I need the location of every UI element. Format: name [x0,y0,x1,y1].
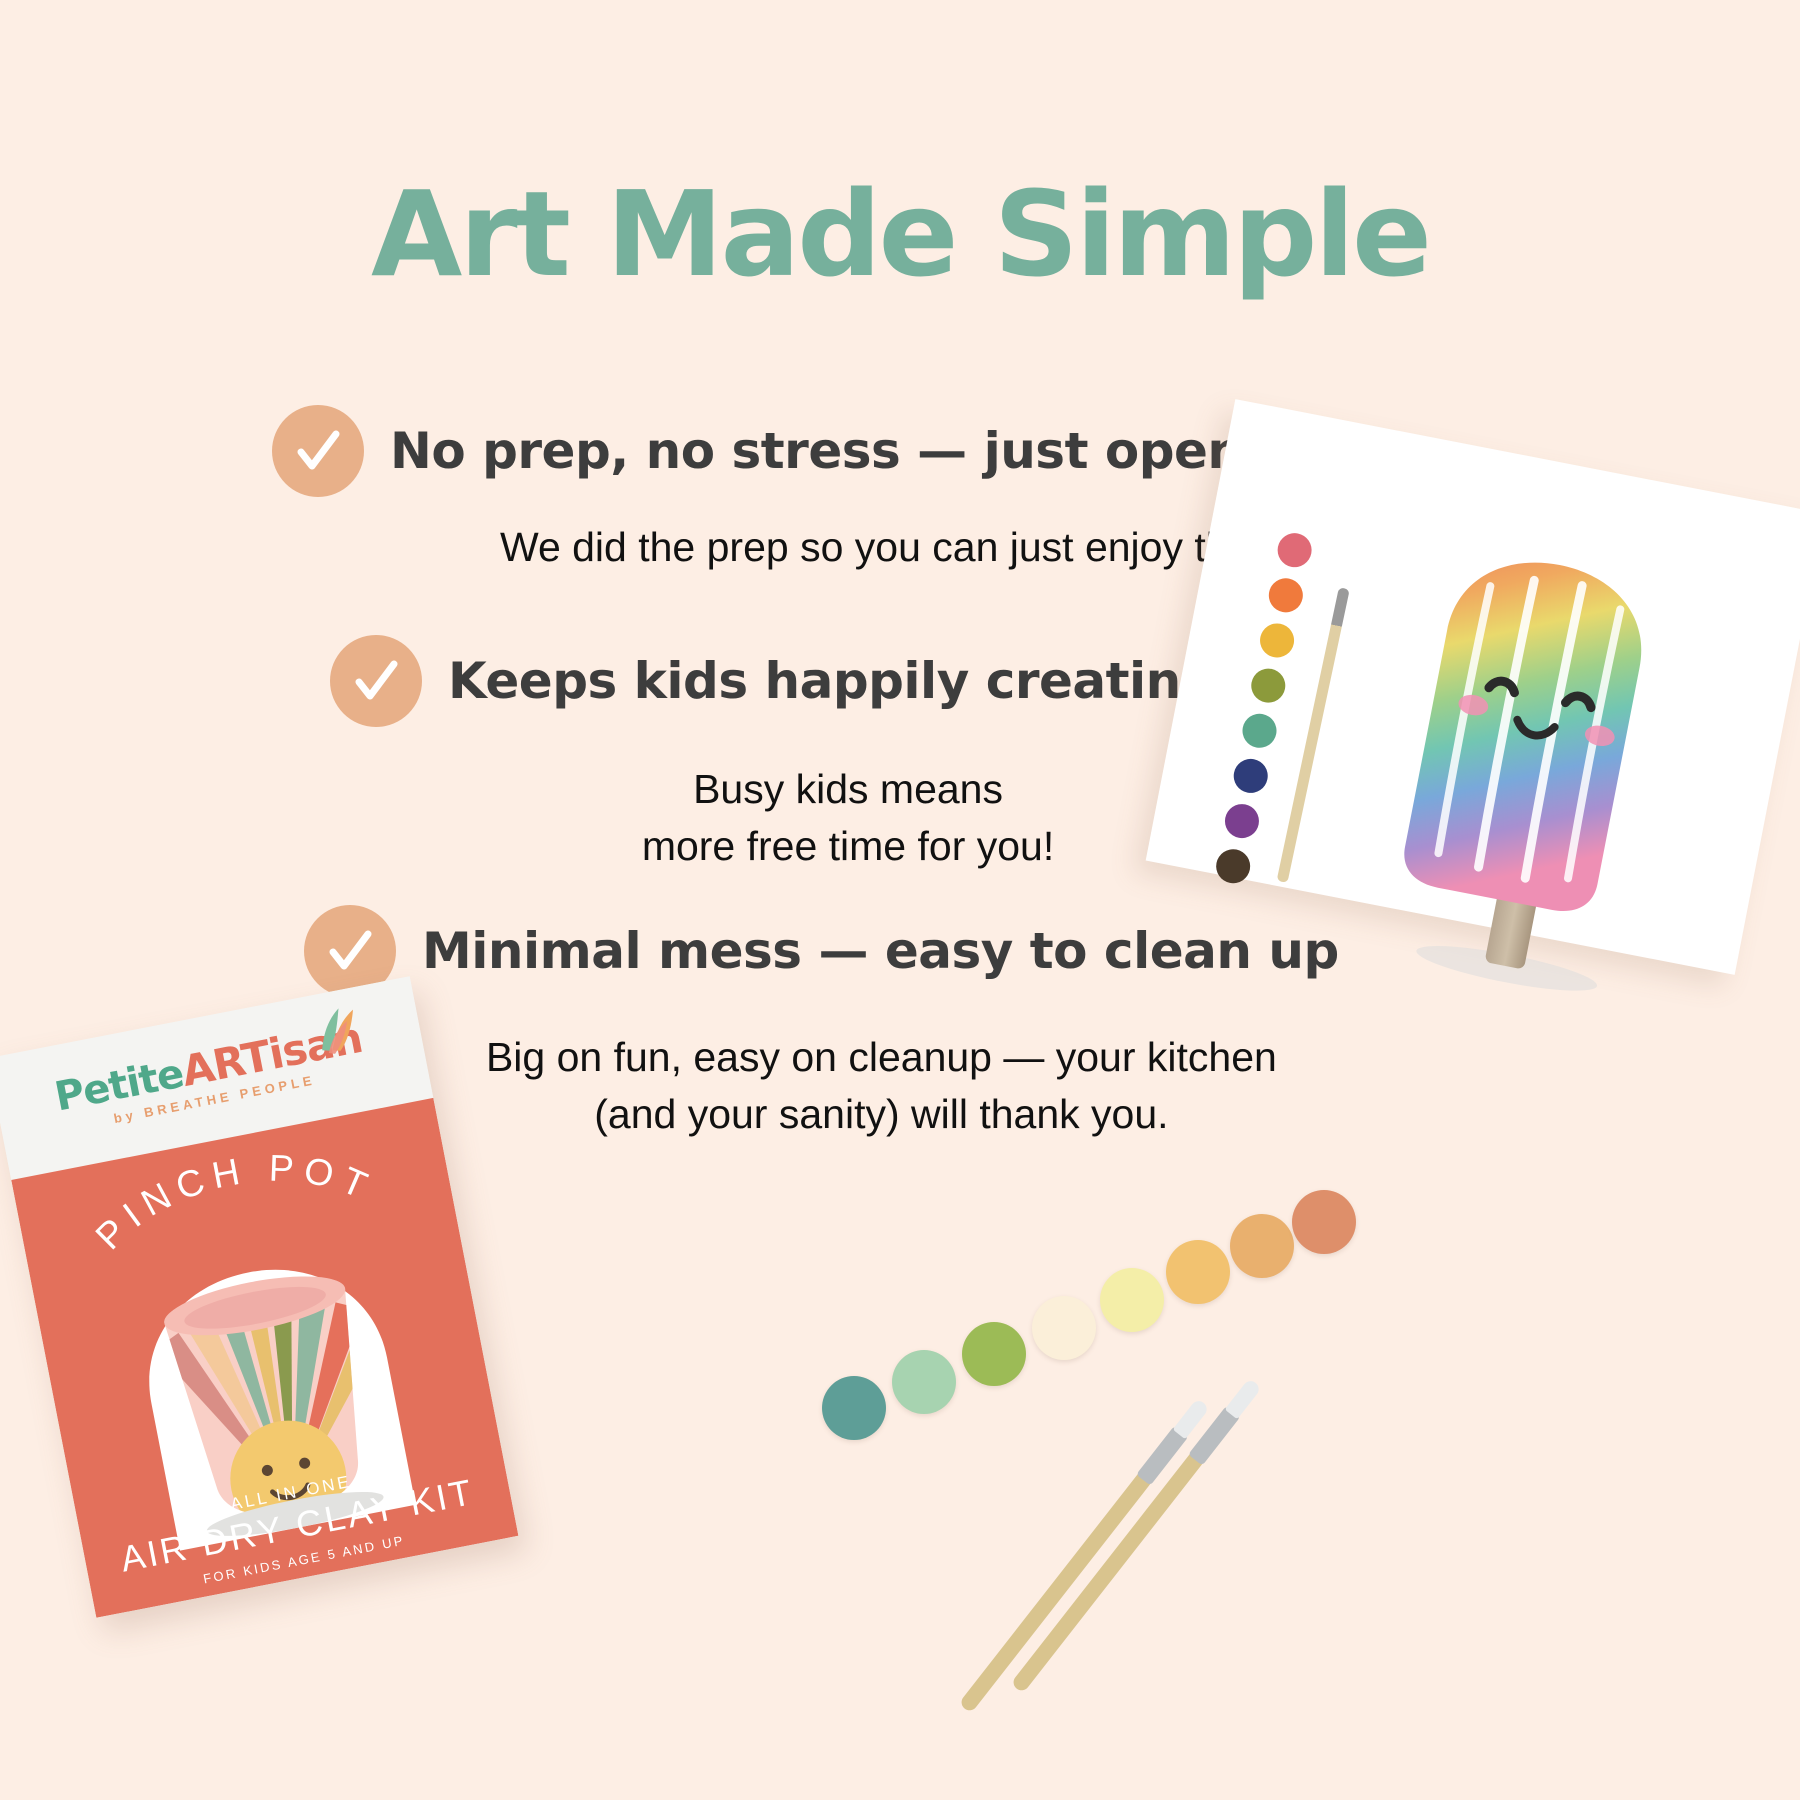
swatch-dot [1257,621,1297,661]
paint-pot [822,1376,886,1440]
paint-pot [962,1322,1026,1386]
paint-pot [1230,1214,1294,1278]
paint-pot [892,1350,956,1414]
benefit-2-headline: Keeps kids happily creating [448,652,1216,710]
check-icon [272,405,364,497]
swatch-dot [1248,666,1288,706]
benefit-3-body-line-1: Big on fun, easy on cleanup — your kitch… [424,1029,1339,1086]
benefit-2-body: Busy kids means more free time for you! [480,761,1216,874]
brush-handle [958,1467,1155,1713]
benefit-3-headline: Minimal mess — easy to clean up [422,922,1339,980]
benefit-3-row: Minimal mess — easy to clean up [304,905,1339,997]
benefit-3-body-line-2: (and your sanity) will thank you. [424,1086,1339,1143]
leaf-sprig-icon [305,1002,370,1063]
swatch-dot [1275,530,1315,570]
swatch-dot [1240,711,1280,751]
page-title: Art Made Simple [0,175,1800,293]
popsicle-swatch-column [1211,530,1315,898]
benefit-3-body: Big on fun, easy on cleanup — your kitch… [424,1029,1339,1142]
benefit-2-row: Keeps kids happily creating [330,635,1216,727]
benefit-item-3: Minimal mess — easy to clean up Big on f… [304,905,1339,1142]
popsicle-card-inner [1146,399,1800,975]
swatch-dot [1266,575,1306,615]
paint-pot [1166,1240,1230,1304]
poster-canvas: Art Made Simple No prep, no stress — jus… [0,0,1800,1800]
swatch-dot [1213,846,1253,886]
benefit-item-2: Keeps kids happily creating Busy kids me… [330,635,1216,874]
benefit-2-body-line-2: more free time for you! [480,818,1216,875]
swatch-dot [1231,756,1271,796]
paint-pot [1100,1268,1164,1332]
paint-pot [1032,1296,1096,1360]
check-icon [330,635,422,727]
brush-handle [1010,1447,1207,1693]
rainbow-popsicle-illustration [1332,530,1738,1015]
popsicle-artwork-card [1146,399,1800,975]
paint-pot [1292,1190,1356,1254]
paint-pot-strip [800,1180,1360,1480]
swatch-dot [1222,801,1262,841]
benefit-2-body-line-1: Busy kids means [480,761,1216,818]
